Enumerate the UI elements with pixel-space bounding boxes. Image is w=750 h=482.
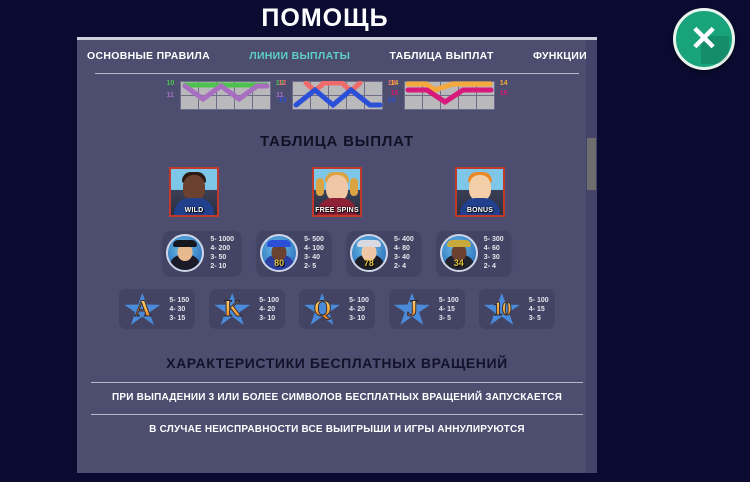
payout-4: 4- 200 bbox=[210, 244, 234, 253]
reel-cell bbox=[329, 82, 346, 95]
payout-4: 4- 20 bbox=[259, 305, 279, 314]
reel-cell bbox=[253, 96, 270, 109]
payout-5: 5- 150 bbox=[169, 296, 189, 305]
free-spins-divider bbox=[91, 382, 583, 383]
lineman-jersey-number: 78 bbox=[352, 258, 386, 268]
close-icon: ✕ bbox=[676, 11, 732, 67]
symbol-payout-queen[interactable]: Q 5- 100 4- 20 3- 10 bbox=[299, 289, 375, 329]
reel-cell bbox=[477, 82, 494, 95]
reel-cell bbox=[477, 96, 494, 109]
payout-5: 5- 100 bbox=[259, 296, 279, 305]
manager-payouts: 5- 1000 4- 200 3- 50 2- 10 bbox=[210, 235, 234, 271]
reel-cell bbox=[217, 82, 234, 95]
payline-number-12-left: 12 bbox=[279, 80, 287, 87]
jack-symbol-icon: J bbox=[391, 291, 433, 327]
reel-cell bbox=[311, 96, 328, 109]
wild-label: WILD bbox=[171, 207, 217, 214]
payout-4: 4- 15 bbox=[529, 305, 549, 314]
runner-payouts: 5- 300 4- 60 3- 30 2- 4 bbox=[484, 235, 504, 271]
runner-symbol-icon: 34 bbox=[440, 234, 478, 272]
symbol-payout-ace[interactable]: A 5- 150 4- 30 3- 15 bbox=[119, 289, 195, 329]
ten-payouts: 5- 100 4- 15 3- 5 bbox=[529, 296, 549, 323]
tab-paylines[interactable]: ЛИНИИ ВЫПЛАТЫ bbox=[247, 50, 352, 62]
reel-cell bbox=[217, 96, 234, 109]
tab-paytable[interactable]: ТАБЛИЦА ВЫПЛАТ bbox=[388, 50, 496, 62]
lineman-symbol-icon: 78 bbox=[350, 234, 388, 272]
card-symbols-row: A 5- 150 4- 30 3- 15 K 5- 100 4- 20 3- 1… bbox=[77, 289, 597, 329]
malfunction-divider bbox=[91, 414, 583, 415]
reel-cell bbox=[347, 96, 364, 109]
reel-cell bbox=[329, 96, 346, 109]
reel-cell bbox=[181, 96, 198, 109]
payout-2: 2- 5 bbox=[304, 262, 324, 271]
payout-3: 3- 15 bbox=[169, 314, 189, 323]
special-symbol-free-spins[interactable]: FREE SPINS bbox=[312, 167, 362, 217]
ace-letter: A bbox=[135, 296, 151, 322]
reel-cell bbox=[423, 82, 440, 95]
scrollbar-thumb[interactable] bbox=[587, 138, 596, 190]
receiver-payouts: 5- 500 4- 100 3- 40 2- 5 bbox=[304, 235, 324, 271]
payout-4: 4- 100 bbox=[304, 244, 324, 253]
ten-symbol-icon: 10 bbox=[481, 291, 523, 327]
payline-group-12-13: 12 12 13 13 bbox=[292, 81, 383, 110]
free-spins-note: ПРИ ВЫПАДЕНИИ 3 ИЛИ БОЛЕЕ СИМВОЛОВ БЕСПЛ… bbox=[77, 392, 597, 403]
payline-group-10-11: 10 10 11 11 bbox=[180, 81, 271, 110]
tab-basic-rules[interactable]: ОСНОВНЫЕ ПРАВИЛА bbox=[85, 50, 212, 62]
reel-cell bbox=[199, 96, 216, 109]
payline-reel-grid bbox=[404, 81, 495, 110]
payout-3: 3- 5 bbox=[439, 314, 459, 323]
payout-3: 3- 30 bbox=[484, 253, 504, 262]
symbol-payout-ten[interactable]: 10 5- 100 4- 15 3- 5 bbox=[479, 289, 555, 329]
high-symbols-row: 5- 1000 4- 200 3- 50 2- 10 80 5- 500 4- … bbox=[77, 231, 597, 275]
reel-cell bbox=[253, 82, 270, 95]
ace-payouts: 5- 150 4- 30 3- 15 bbox=[169, 296, 189, 323]
free-spins-label: FREE SPINS bbox=[314, 207, 360, 214]
reel-cell bbox=[181, 82, 198, 95]
jack-letter: J bbox=[407, 296, 418, 322]
payout-3: 3- 10 bbox=[349, 314, 369, 323]
tab-bar: ОСНОВНЫЕ ПРАВИЛА ЛИНИИ ВЫПЛАТЫ ТАБЛИЦА В… bbox=[77, 40, 597, 70]
free-spins-pigtail-right bbox=[350, 178, 358, 196]
payout-3: 3- 40 bbox=[304, 253, 324, 262]
receiver-symbol-icon: 80 bbox=[260, 234, 298, 272]
payline-reel-grid bbox=[292, 81, 383, 110]
close-button[interactable]: ✕ bbox=[673, 8, 735, 70]
special-symbols-row: WILD FREE SPINS BONUS bbox=[77, 167, 597, 217]
payout-5: 5- 300 bbox=[484, 235, 504, 244]
payline-diagrams: 10 10 11 11 12 12 13 13 bbox=[77, 81, 597, 110]
reel-cell bbox=[405, 96, 422, 109]
jack-payouts: 5- 100 4- 15 3- 5 bbox=[439, 296, 459, 323]
runner-jersey-number: 34 bbox=[442, 258, 476, 268]
payout-3: 3- 50 bbox=[210, 253, 234, 262]
symbol-payout-lineman[interactable]: 78 5- 400 4- 80 3- 40 2- 4 bbox=[347, 231, 421, 275]
payline-number-14-left: 14 bbox=[391, 80, 399, 87]
special-symbol-wild[interactable]: WILD bbox=[169, 167, 219, 217]
queen-payouts: 5- 100 4- 20 3- 10 bbox=[349, 296, 369, 323]
bonus-label: BONUS bbox=[457, 207, 503, 214]
payout-3: 3- 40 bbox=[394, 253, 414, 262]
free-spins-heading: ХАРАКТЕРИСТИКИ БЕСПЛАТНЫХ ВРАЩЕНИЙ bbox=[77, 355, 597, 371]
ace-symbol-icon: A bbox=[121, 291, 163, 327]
symbol-payout-receiver[interactable]: 80 5- 500 4- 100 3- 40 2- 5 bbox=[257, 231, 331, 275]
reel-cell bbox=[235, 96, 252, 109]
manager-symbol-icon bbox=[166, 234, 204, 272]
receiver-jersey-number: 80 bbox=[262, 258, 296, 268]
queen-letter: Q bbox=[314, 296, 331, 322]
reel-cell bbox=[293, 96, 310, 109]
payline-reel-grid bbox=[180, 81, 271, 110]
reel-cell bbox=[293, 82, 310, 95]
lineman-payouts: 5- 400 4- 80 3- 40 2- 4 bbox=[394, 235, 414, 271]
page-title: ПОМОЩЬ bbox=[0, 4, 650, 33]
ten-letter: 10 bbox=[493, 298, 511, 321]
payout-5: 5- 100 bbox=[349, 296, 369, 305]
payline-number-15-left: 15 bbox=[391, 90, 399, 97]
payline-number-13-right: 13 bbox=[388, 97, 396, 104]
king-symbol-icon: K bbox=[211, 291, 253, 327]
payout-2: 2- 4 bbox=[484, 262, 504, 271]
reel-cell bbox=[459, 96, 476, 109]
reel-cell bbox=[441, 82, 458, 95]
free-spins-pigtail-left bbox=[316, 178, 324, 196]
payline-number-10-left: 10 bbox=[167, 80, 175, 87]
payout-3: 3- 10 bbox=[259, 314, 279, 323]
symbol-payout-jack[interactable]: J 5- 100 4- 15 3- 5 bbox=[389, 289, 465, 329]
payout-5: 5- 100 bbox=[439, 296, 459, 305]
special-symbol-bonus[interactable]: BONUS bbox=[455, 167, 505, 217]
reel-cell bbox=[365, 96, 382, 109]
paytable-heading: ТАБЛИЦА ВЫПЛАТ bbox=[77, 133, 597, 150]
payout-5: 5- 400 bbox=[394, 235, 414, 244]
scrollbar-track[interactable] bbox=[586, 40, 597, 473]
queen-symbol-icon: Q bbox=[301, 291, 343, 327]
symbol-payout-runner[interactable]: 34 5- 300 4- 60 3- 30 2- 4 bbox=[437, 231, 511, 275]
payline-group-14-15: 14 14 15 15 bbox=[404, 81, 495, 110]
payline-number-15-right: 15 bbox=[500, 90, 508, 97]
payout-4: 4- 30 bbox=[169, 305, 189, 314]
king-letter: K bbox=[224, 296, 241, 322]
help-panel: ОСНОВНЫЕ ПРАВИЛА ЛИНИИ ВЫПЛАТЫ ТАБЛИЦА В… bbox=[77, 37, 597, 473]
reel-cell bbox=[441, 96, 458, 109]
reel-cell bbox=[347, 82, 364, 95]
reel-cell bbox=[423, 96, 440, 109]
payout-3: 3- 5 bbox=[529, 314, 549, 323]
symbol-payout-king[interactable]: K 5- 100 4- 20 3- 10 bbox=[209, 289, 285, 329]
payout-4: 4- 20 bbox=[349, 305, 369, 314]
payout-4: 4- 60 bbox=[484, 244, 504, 253]
reel-cell bbox=[199, 82, 216, 95]
payout-4: 4- 15 bbox=[439, 305, 459, 314]
payout-5: 5- 1000 bbox=[210, 235, 234, 244]
malfunction-note: В СЛУЧАЕ НЕИСПРАВНОСТИ ВСЕ ВЫИГРЫШИ И ИГ… bbox=[77, 424, 597, 435]
tab-divider bbox=[95, 73, 579, 74]
reel-cell bbox=[459, 82, 476, 95]
payout-2: 2- 10 bbox=[210, 262, 234, 271]
king-payouts: 5- 100 4- 20 3- 10 bbox=[259, 296, 279, 323]
help-screen: ПОМОЩЬ ✕ ОСНОВНЫЕ ПРАВИЛА ЛИНИИ ВЫПЛАТЫ … bbox=[0, 0, 750, 482]
reel-cell bbox=[235, 82, 252, 95]
payout-4: 4- 80 bbox=[394, 244, 414, 253]
reel-cell bbox=[365, 82, 382, 95]
tab-features[interactable]: ФУНКЦИИ bbox=[531, 50, 589, 62]
payout-5: 5- 500 bbox=[304, 235, 324, 244]
payout-2: 2- 4 bbox=[394, 262, 414, 271]
payline-number-13-left: 13 bbox=[279, 97, 287, 104]
payline-number-11-left: 11 bbox=[167, 92, 174, 99]
reel-cell bbox=[405, 82, 422, 95]
payout-5: 5- 100 bbox=[529, 296, 549, 305]
payline-number-14-right: 14 bbox=[500, 80, 508, 87]
reel-cell bbox=[311, 82, 328, 95]
symbol-payout-manager[interactable]: 5- 1000 4- 200 3- 50 2- 10 bbox=[163, 231, 241, 275]
